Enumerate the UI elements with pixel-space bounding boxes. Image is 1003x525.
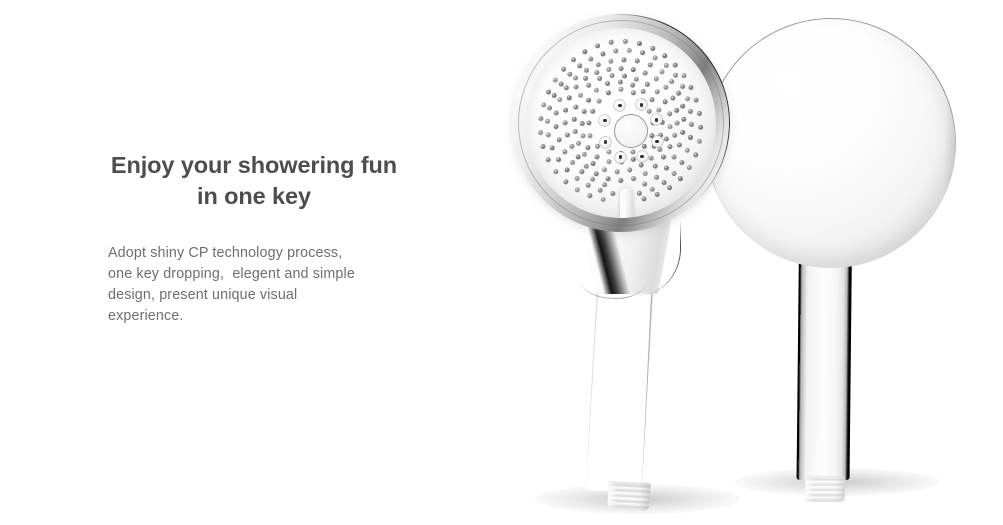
shower-head-front-view [510,12,810,512]
description-line-1: Adopt shiny CP technology process, [108,243,408,264]
massage-jet [637,151,648,162]
threaded-connector [607,481,650,511]
one-key-button[interactable] [620,188,633,218]
description-text: Adopt shiny CP technology process,one ke… [108,243,408,327]
rear-threaded-connector [805,476,845,502]
marketing-copy-panel: Enjoy your showering funin one key Adopt… [60,150,440,327]
description-line-2: one key dropping, elegent and simple [108,264,408,285]
page-title: Enjoy your showering funin one key [60,150,440,213]
headline-line-2: in one key [80,181,428,212]
spray-face [526,28,716,218]
neck-lip-line [580,262,646,299]
product-image [500,0,1003,525]
center-hub [614,114,648,148]
massage-jet [615,152,626,163]
product-banner: Enjoy your showering funin one key Adopt… [0,0,1003,525]
massage-jet [652,136,663,147]
description-line-4: experience. [108,306,408,327]
headline-line-1: Enjoy your showering fun [111,152,397,178]
description-line-3: design, present unique visual [108,285,408,306]
massage-jet [600,137,611,148]
